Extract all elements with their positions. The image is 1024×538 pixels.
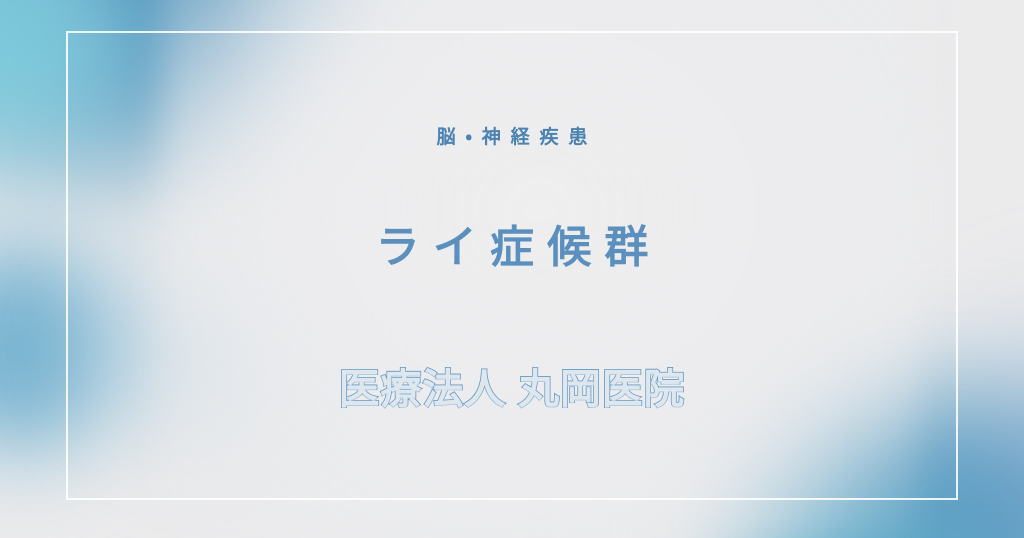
clinic-name: 医療法人 丸岡医院 (339, 369, 686, 410)
title-content-stack: 脳・神経疾患 ライ症候群 医療法人 丸岡医院 (0, 0, 1024, 538)
category-label: 脳・神経疾患 (427, 128, 598, 147)
title-card-canvas: 脳・神経疾患 ライ症候群 医療法人 丸岡医院 (0, 0, 1024, 538)
page-title: ライ症候群 (362, 226, 661, 270)
